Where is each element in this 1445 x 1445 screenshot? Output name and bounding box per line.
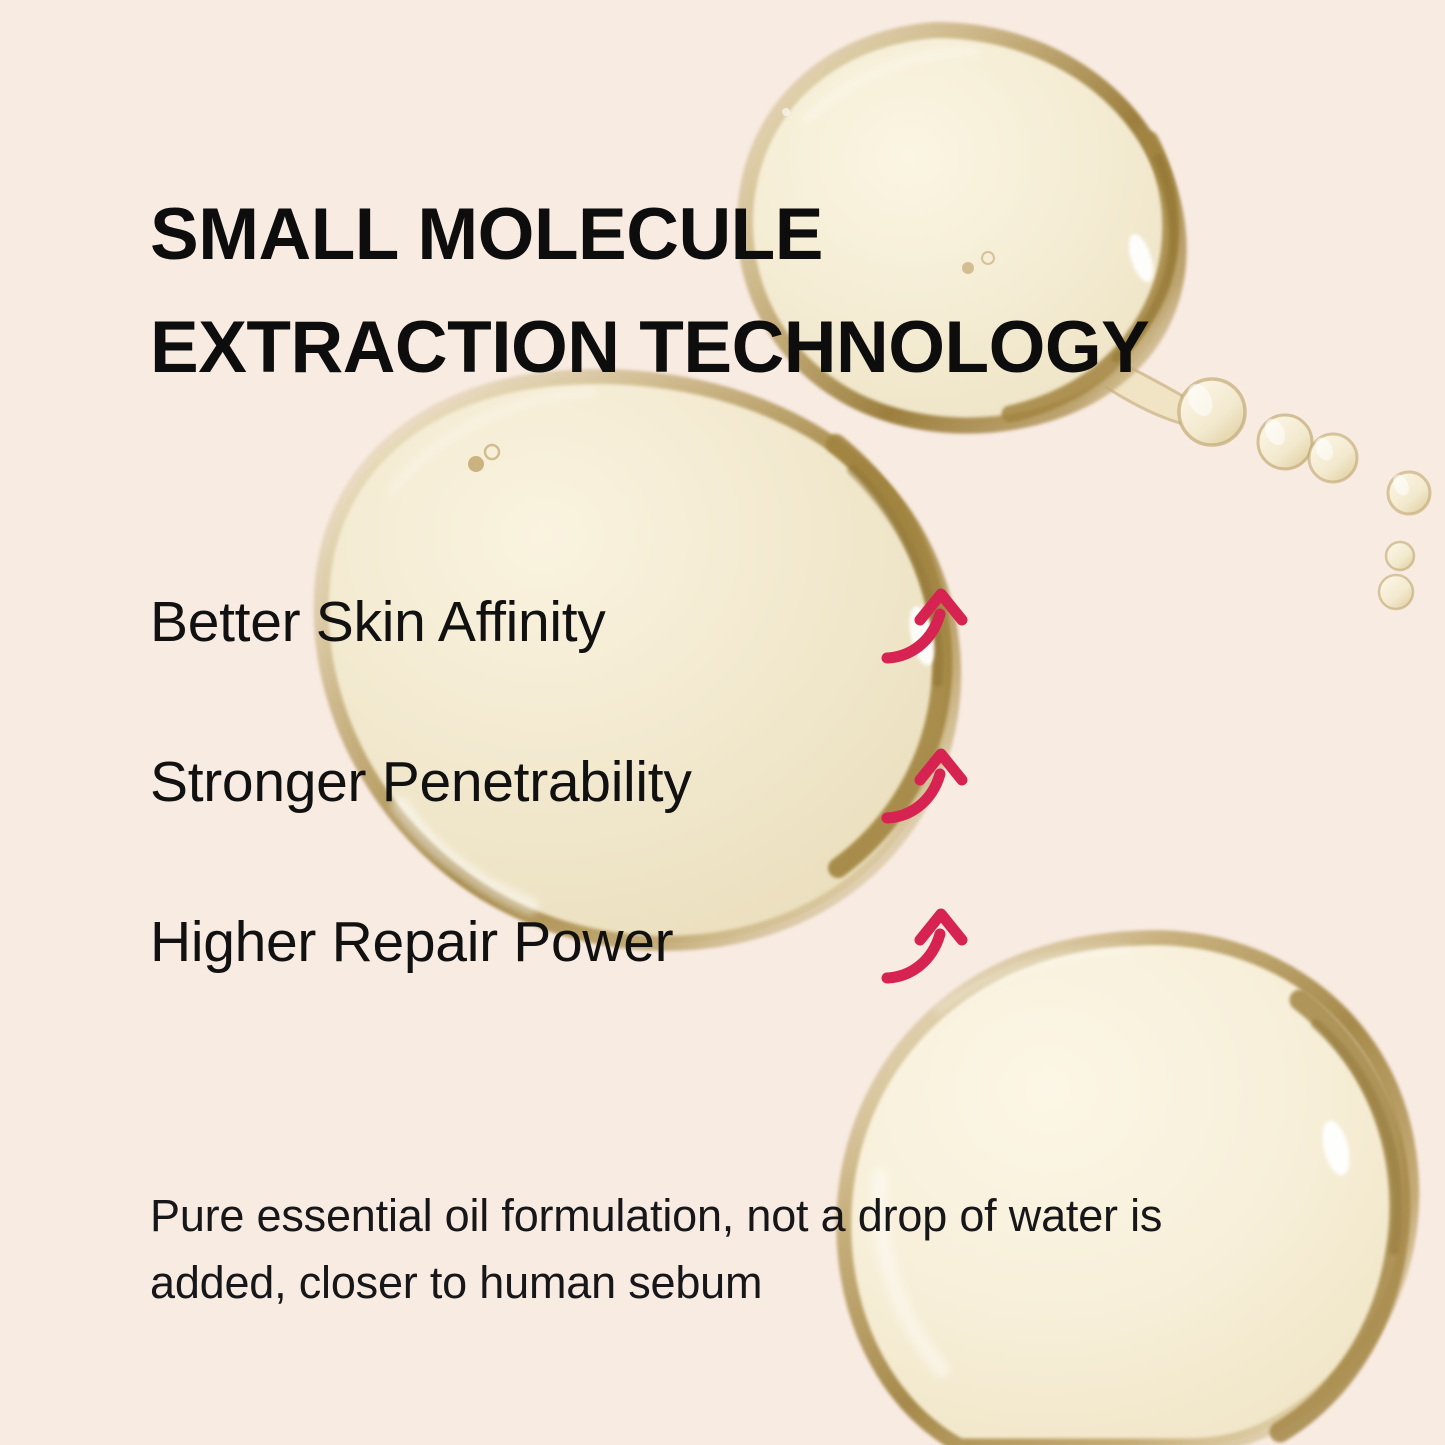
feature-label-higher-repair-power: Higher Repair Power bbox=[150, 909, 673, 975]
curved-up-arrow-icon-1 bbox=[880, 578, 972, 676]
product-caption: Pure essential oil formulation, not a dr… bbox=[150, 1183, 1310, 1316]
curved-up-arrow-icon-2 bbox=[880, 738, 972, 836]
feature-row-1: Better Skin Affinity bbox=[150, 582, 980, 662]
content-layer: SMALL MOLECULE EXTRACTION TECHNOLOGY Bet… bbox=[0, 0, 1445, 1445]
feature-row-3: Higher Repair Power bbox=[150, 902, 980, 982]
feature-label-better-skin-affinity: Better Skin Affinity bbox=[150, 589, 606, 655]
page-title: SMALL MOLECULE EXTRACTION TECHNOLOGY bbox=[150, 178, 1340, 404]
feature-row-2: Stronger Penetrability bbox=[150, 742, 980, 822]
feature-label-stronger-penetrability: Stronger Penetrability bbox=[150, 749, 692, 815]
curved-up-arrow-icon-3 bbox=[880, 898, 972, 996]
product-infographic-poster: SMALL MOLECULE EXTRACTION TECHNOLOGY Bet… bbox=[0, 0, 1445, 1445]
